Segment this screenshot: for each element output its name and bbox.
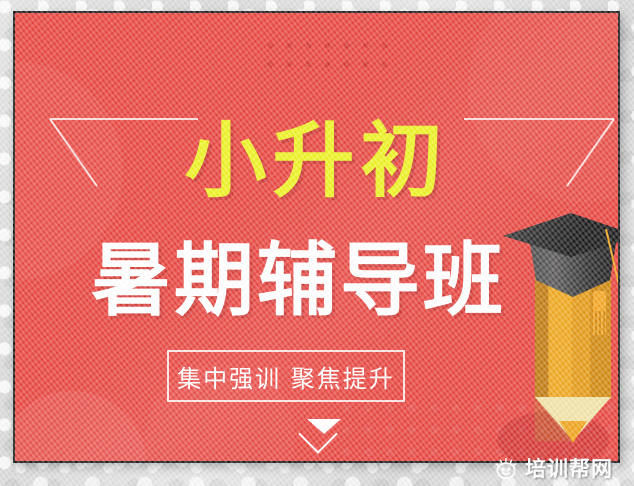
graduation-cap-tassel-fringe <box>593 309 606 335</box>
site-watermark-text: 培训帮网 <box>525 457 613 481</box>
poster-title-line-1: 小升初 <box>15 121 618 203</box>
poster-subtitle-box: 集中强训 聚焦提升 <box>167 350 405 402</box>
poster-stage: 小升初 暑期辅导班 集中强训 聚焦提升 <box>15 13 618 461</box>
smiley-sun-logo-icon <box>494 457 518 481</box>
site-watermark: 培训帮网 <box>494 457 613 481</box>
pencil-lead-point <box>559 421 587 443</box>
chevron-down-icon[interactable] <box>299 417 349 455</box>
page-backdrop: 小升初 暑期辅导班 集中强训 聚焦提升 <box>0 0 634 486</box>
poster-subtitle-text: 集中强训 聚焦提升 <box>177 359 395 394</box>
dot-grid-pattern-top <box>258 33 391 81</box>
graduation-cap-tassel-knot <box>593 291 606 311</box>
bracket-left-bar <box>50 118 198 120</box>
decorative-circle-left-bottom <box>15 391 147 461</box>
bracket-right-bar <box>464 118 614 120</box>
pencil-with-graduation-cap-illustration <box>501 209 618 449</box>
promo-poster: 小升初 暑期辅导班 集中强训 聚焦提升 <box>13 11 620 463</box>
